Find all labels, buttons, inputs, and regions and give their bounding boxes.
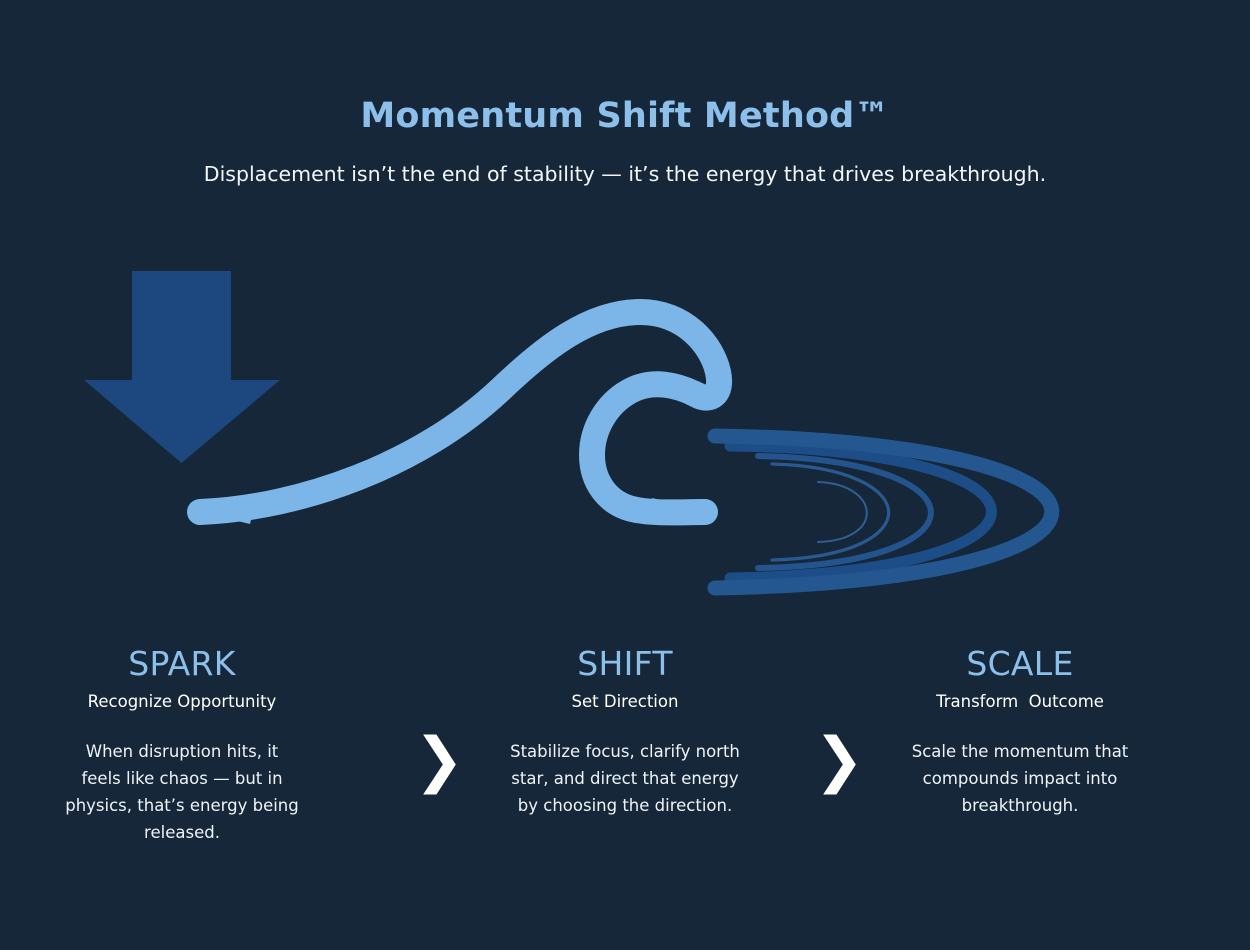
step-spark: SPARK Recognize Opportunity When disrupt… [57, 645, 307, 847]
step-body-shift: Stabilize focus, clarify north star, and… [500, 712, 750, 820]
step-title-spark: SPARK [57, 645, 307, 683]
page-title: Momentum Shift Method™ [0, 0, 1250, 135]
step-body-scale: Scale the momentum that compounds impact… [895, 712, 1145, 820]
step-shift: SHIFT Set Direction Stabilize focus, cla… [500, 645, 750, 819]
step-subtitle-shift: Set Direction [500, 683, 750, 712]
momentum-graphic [0, 250, 1250, 610]
step-scale: SCALE Transform Outcome Scale the moment… [895, 645, 1145, 819]
infographic-canvas: Momentum Shift Method™ Displacement isn’… [0, 0, 1250, 950]
step-subtitle-scale: Transform Outcome [895, 683, 1145, 712]
down-arrow-icon [84, 271, 280, 463]
wave-curl-icon [200, 312, 719, 524]
steps-row: SPARK Recognize Opportunity When disrupt… [0, 645, 1250, 905]
page-subtitle: Displacement isn’t the end of stability … [0, 135, 1250, 186]
step-subtitle-spark: Recognize Opportunity [57, 683, 307, 712]
header: Momentum Shift Method™ Displacement isn’… [0, 0, 1250, 185]
step-body-spark: When disruption hits, it feels like chao… [57, 712, 307, 847]
step-title-scale: SCALE [895, 645, 1145, 683]
step-title-shift: SHIFT [500, 645, 750, 683]
ripple-arcs [715, 436, 1052, 588]
